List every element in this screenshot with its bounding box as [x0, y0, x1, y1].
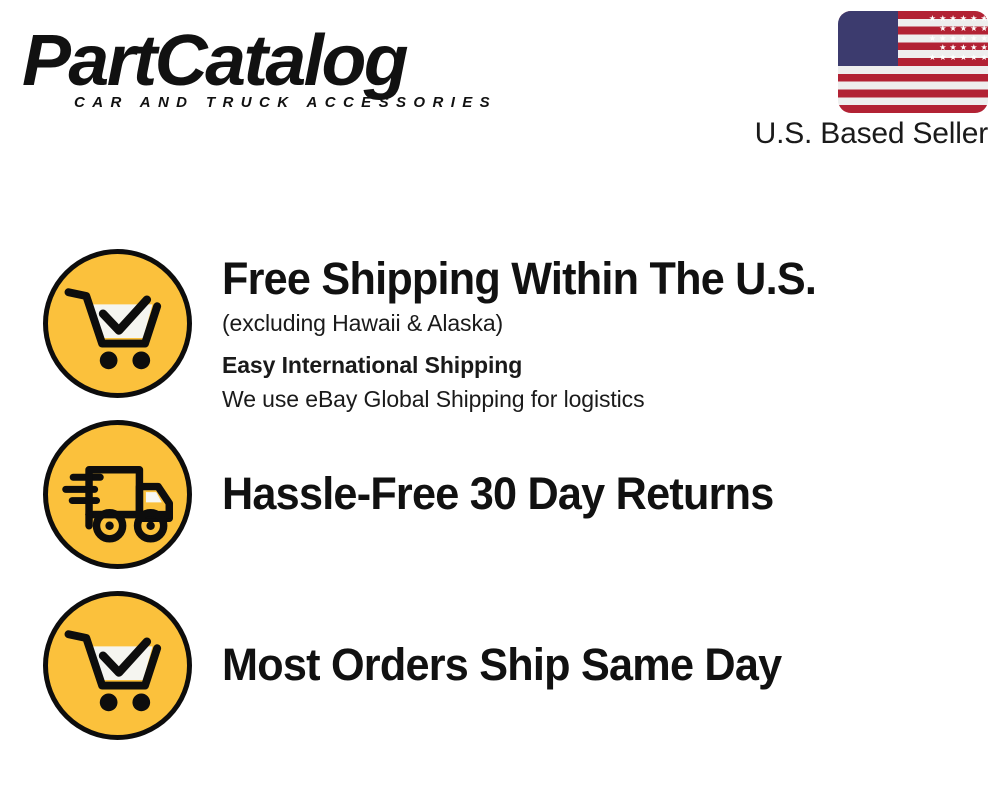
- feature-subtext-exclusions: (excluding Hawaii & Alaska): [222, 307, 1000, 339]
- brand-logo: PartCatalog CAR AND TRUCK ACCESSORIES: [22, 22, 492, 112]
- shopping-cart-check-icon: [43, 591, 192, 740]
- brand-tagline: CAR AND TRUCK ACCESSORIES: [74, 94, 497, 111]
- feature-icon-slot: [0, 591, 200, 741]
- feature-icon-slot: [0, 420, 200, 570]
- feature-text: Hassle-Free 30 Day Returns: [200, 420, 1000, 520]
- flag-stars: ★ ★ ★ ★ ★ ★ ★ ★ ★ ★ ★ ★ ★ ★ ★ ★ ★ ★ ★ ★ …: [838, 11, 988, 113]
- feature-headline: Most Orders Ship Same Day: [222, 639, 969, 691]
- feature-subtext-international: Easy International Shipping: [222, 349, 1000, 381]
- us-based-seller-badge: ★ ★ ★ ★ ★ ★ ★ ★ ★ ★ ★ ★ ★ ★ ★ ★ ★ ★ ★ ★ …: [720, 11, 988, 151]
- us-flag-icon: ★ ★ ★ ★ ★ ★ ★ ★ ★ ★ ★ ★ ★ ★ ★ ★ ★ ★ ★ ★ …: [838, 11, 988, 113]
- feature-icon-slot: [0, 249, 200, 399]
- feature-subtext-logistics: We use eBay Global Shipping for logistic…: [222, 383, 1000, 415]
- feature-headline: Free Shipping Within The U.S.: [222, 253, 969, 305]
- brand-wordmark: PartCatalog: [22, 22, 501, 100]
- feature-text: Free Shipping Within The U.S. (excluding…: [200, 249, 1000, 415]
- header: PartCatalog CAR AND TRUCK ACCESSORIES ★ …: [0, 0, 1000, 175]
- feature-row: Most Orders Ship Same Day: [0, 591, 1000, 761]
- promo-banner: PartCatalog CAR AND TRUCK ACCESSORIES ★ …: [0, 0, 1000, 800]
- feature-text: Most Orders Ship Same Day: [200, 591, 1000, 691]
- delivery-truck-icon: [43, 420, 192, 569]
- shopping-cart-check-icon: [43, 249, 192, 398]
- feature-headline: Hassle-Free 30 Day Returns: [222, 468, 969, 520]
- us-based-seller-label: U.S. Based Seller: [720, 117, 988, 151]
- feature-row: Free Shipping Within The U.S. (excluding…: [0, 249, 1000, 419]
- feature-row: Hassle-Free 30 Day Returns: [0, 420, 1000, 590]
